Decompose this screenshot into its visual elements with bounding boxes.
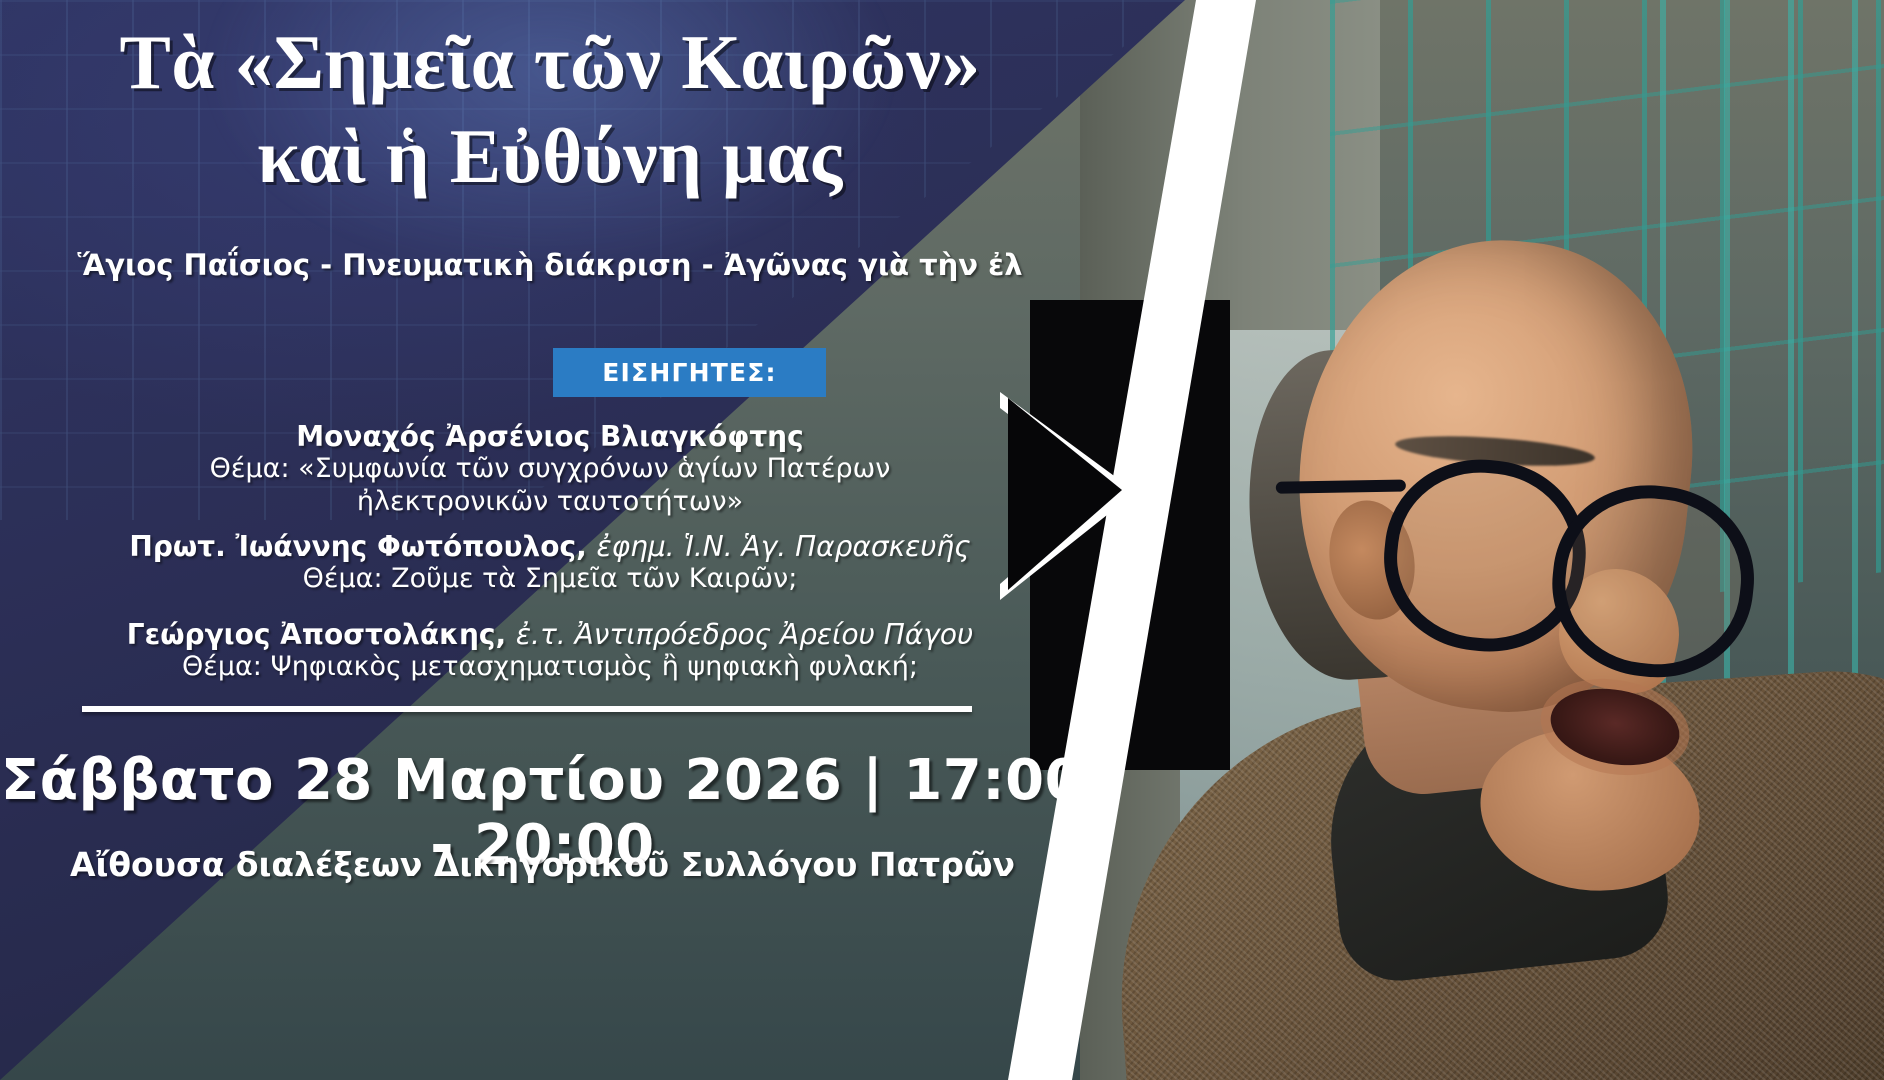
event-venue: Αἴθουσα διαλέξεων Δικηγορικοῦ Συλλόγου Π… bbox=[0, 845, 1085, 884]
divider-rule bbox=[82, 706, 972, 712]
title-line-2: καὶ ἡ Εὐθύνη μας bbox=[0, 110, 1100, 204]
speaker-2-name-text: Πρωτ. Ἰωάννης Φωτόπουλος, bbox=[129, 530, 586, 563]
speaker-block-2: Πρωτ. Ἰωάννης Φωτόπουλος, ἐφημ. Ἱ.Ν. Ἁγ.… bbox=[0, 530, 1100, 596]
eyeglasses-icon bbox=[1372, 450, 1788, 661]
portrait-figure bbox=[1180, 170, 1884, 1080]
speaker-block-1: Μοναχός Ἀρσένιος Βλιαγκόφτης Θέμα: «Συμφ… bbox=[0, 420, 1100, 519]
speaker-3-name-text: Γεώργιος Ἀποστολάκης, bbox=[127, 618, 506, 651]
speaker-3-theme-line-1: Θέμα: Ψηφιακὸς μετασχηματισμὸς ἢ ψηφιακὴ… bbox=[0, 651, 1100, 684]
poster-content: Τὰ «Σημεῖα τῶν Καιρῶν» καὶ ἡ Εὐθύνη μας … bbox=[0, 0, 1185, 1080]
speaker-3-role: ἐ.τ. Ἀντιπρόεδρος Ἀρείου Πάγου bbox=[516, 618, 973, 651]
speaker-1-name: Μοναχός Ἀρσένιος Βλιαγκόφτης bbox=[0, 420, 1100, 453]
page-title: Τὰ «Σημεῖα τῶν Καιρῶν» καὶ ἡ Εὐθύνη μας bbox=[0, 16, 1100, 204]
speaker-2-role: ἐφημ. Ἱ.Ν. Ἁγ. Παρασκευῆς bbox=[596, 530, 970, 563]
speaker-1-theme-line-1: Θέμα: «Συμφωνία τῶν συγχρόνων ἁγίων Πατέ… bbox=[0, 453, 1100, 486]
glasses-temple bbox=[1276, 479, 1406, 493]
speaker-block-3: Γεώργιος Ἀποστολάκης, ἐ.τ. Ἀντιπρόεδρος … bbox=[0, 618, 1100, 684]
speaker-3-name: Γεώργιος Ἀποστολάκης, ἐ.τ. Ἀντιπρόεδρος … bbox=[0, 618, 1100, 651]
poster-screenshot: Τὰ «Σημεῖα τῶν Καιρῶν» καὶ ἡ Εὐθύνη μας … bbox=[0, 0, 1884, 1080]
speaker-2-theme-line-1: Θέμα: Ζοῦμε τὰ Σημεῖα τῶν Καιρῶν; bbox=[0, 563, 1100, 596]
title-line-1: Τὰ «Σημεῖα τῶν Καιρῶν» bbox=[0, 16, 1100, 110]
poster-subtitle: Ἅγιος Παΐσιος - Πνευματικὴ διάκριση - Ἀγ… bbox=[0, 248, 1100, 282]
speaker-2-name: Πρωτ. Ἰωάννης Φωτόπουλος, ἐφημ. Ἱ.Ν. Ἁγ.… bbox=[0, 530, 1100, 563]
speaker-1-theme-line-2: ἠλεκτρονικῶν ταυτοτήτων» bbox=[0, 486, 1100, 519]
speakers-badge: ΕΙΣΗΓΗΤΕΣ: bbox=[553, 348, 826, 397]
